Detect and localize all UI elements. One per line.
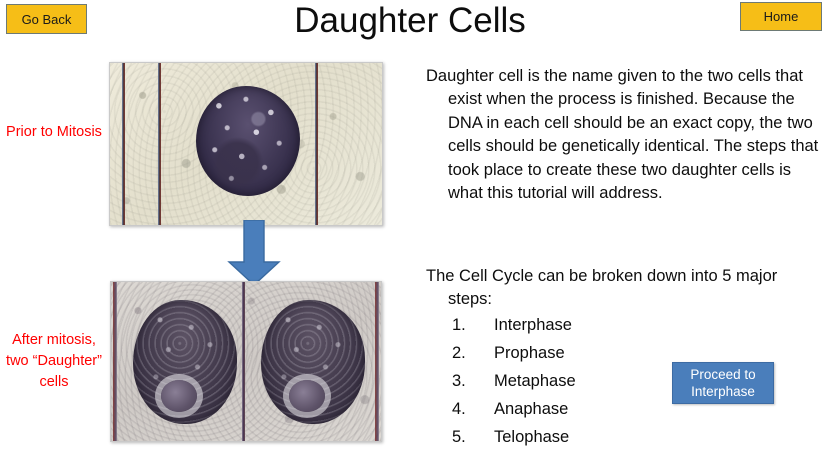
list-item-label: Prophase [494, 344, 565, 363]
list-item-label: Metaphase [494, 372, 576, 391]
list-item-number: 5. [452, 428, 494, 447]
list-item: 3. Metaphase [452, 372, 576, 400]
micrograph-two-daughter-cells [110, 281, 382, 442]
paragraph-cell-cycle-intro: The Cell Cycle can be broken down into 5… [426, 265, 824, 312]
list-item: 2. Prophase [452, 344, 576, 372]
nucleolus-shape [289, 380, 325, 412]
nucleus-shape [196, 86, 300, 196]
cell-wall-line [113, 282, 117, 441]
dividing-wall-line [242, 282, 245, 441]
go-back-button[interactable]: Go Back [6, 4, 87, 34]
daughter-cell-right [261, 300, 365, 424]
list-item: 5. Telophase [452, 428, 576, 456]
cell-wall-line [122, 63, 125, 225]
micrograph-prior-to-mitosis [109, 62, 383, 226]
list-item-number: 2. [452, 344, 494, 363]
page-title: Daughter Cells [180, 1, 640, 41]
caption-after-mitosis: After mitosis, two “Daughter” cells [0, 330, 108, 393]
slide-canvas: Go Back Home Daughter Cells Prior to Mit… [0, 0, 828, 466]
list-item-label: Telophase [494, 428, 569, 447]
nucleolus-shape [161, 380, 197, 412]
proceed-to-interphase-button[interactable]: Proceed to Interphase [672, 362, 774, 404]
list-item-label: Anaphase [494, 400, 568, 419]
list-item-number: 1. [452, 316, 494, 335]
caption-prior-to-mitosis: Prior to Mitosis [0, 122, 108, 143]
cell-wall-line [315, 63, 318, 225]
down-arrow-icon [226, 220, 282, 286]
cell-wall-line [158, 63, 161, 225]
paragraph-daughter-cell-definition: Daughter cell is the name given to the t… [426, 65, 824, 205]
home-button[interactable]: Home [740, 2, 822, 31]
list-item-number: 4. [452, 400, 494, 419]
cell-wall-line [375, 282, 379, 441]
list-item: 4. Anaphase [452, 400, 576, 428]
list-item-number: 3. [452, 372, 494, 391]
cell-cycle-steps-list: 1. Interphase 2. Prophase 3. Metaphase 4… [452, 316, 576, 456]
list-item: 1. Interphase [452, 316, 576, 344]
list-item-label: Interphase [494, 316, 572, 335]
daughter-cell-left [133, 300, 237, 424]
